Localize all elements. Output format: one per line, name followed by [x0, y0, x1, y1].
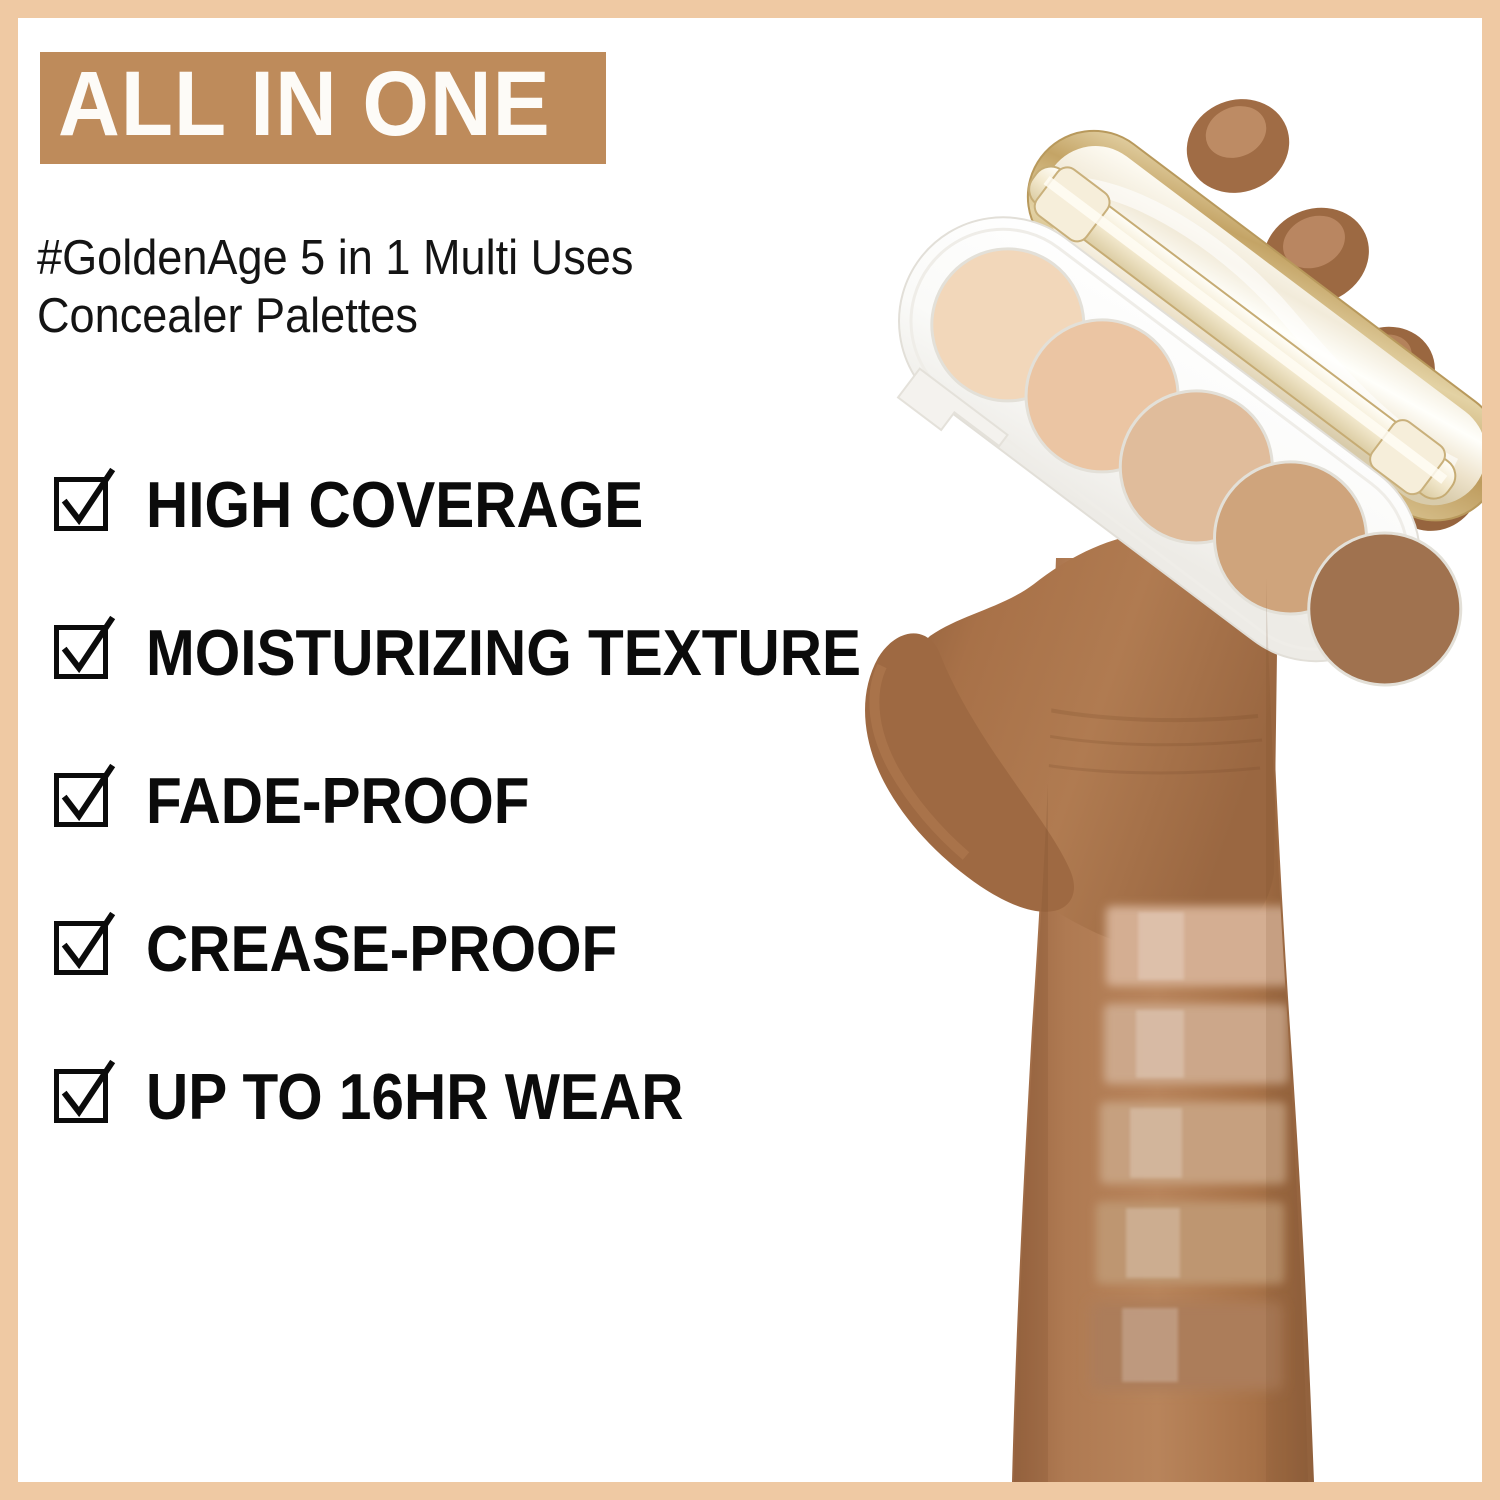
feature-item: CREASE-PROOF: [54, 874, 844, 1022]
feature-item: MOISTURIZING TEXTURE: [54, 578, 844, 726]
feature-item: HIGH COVERAGE: [54, 430, 844, 578]
banner-title: ALL IN ONE: [58, 58, 551, 152]
feature-item: FADE-PROOF: [54, 726, 844, 874]
swatch-2: [1104, 1004, 1288, 1084]
feature-label: CREASE-PROOF: [146, 916, 617, 981]
swatch-1: [1106, 906, 1290, 986]
feature-label: HIGH COVERAGE: [146, 472, 643, 537]
swatch-5: [1090, 1302, 1282, 1390]
checked-box-icon: [54, 917, 112, 975]
swatch-4: [1096, 1202, 1284, 1284]
feature-label: UP TO 16HR WEAR: [146, 1064, 683, 1129]
checked-box-icon: [54, 621, 112, 679]
all-in-one-banner: ALL IN ONE: [40, 52, 606, 164]
checked-box-icon: [54, 1065, 112, 1123]
image-canvas: ALL IN ONE #GoldenAge 5 in 1 Multi Uses …: [18, 18, 1482, 1482]
checked-box-icon: [54, 769, 112, 827]
checked-box-icon: [54, 473, 112, 531]
feature-label: FADE-PROOF: [146, 768, 530, 833]
feature-label: MOISTURIZING TEXTURE: [146, 620, 861, 685]
product-feature-image: ALL IN ONE #GoldenAge 5 in 1 Multi Uses …: [0, 0, 1500, 1500]
feature-list: HIGH COVERAGE MOISTURIZING TEXTURE: [54, 430, 844, 1170]
feature-item: UP TO 16HR WEAR: [54, 1022, 844, 1170]
product-subtitle: #GoldenAge 5 in 1 Multi Uses Concealer P…: [37, 230, 736, 346]
product-photo: [838, 18, 1482, 1482]
swatch-3: [1100, 1102, 1286, 1184]
